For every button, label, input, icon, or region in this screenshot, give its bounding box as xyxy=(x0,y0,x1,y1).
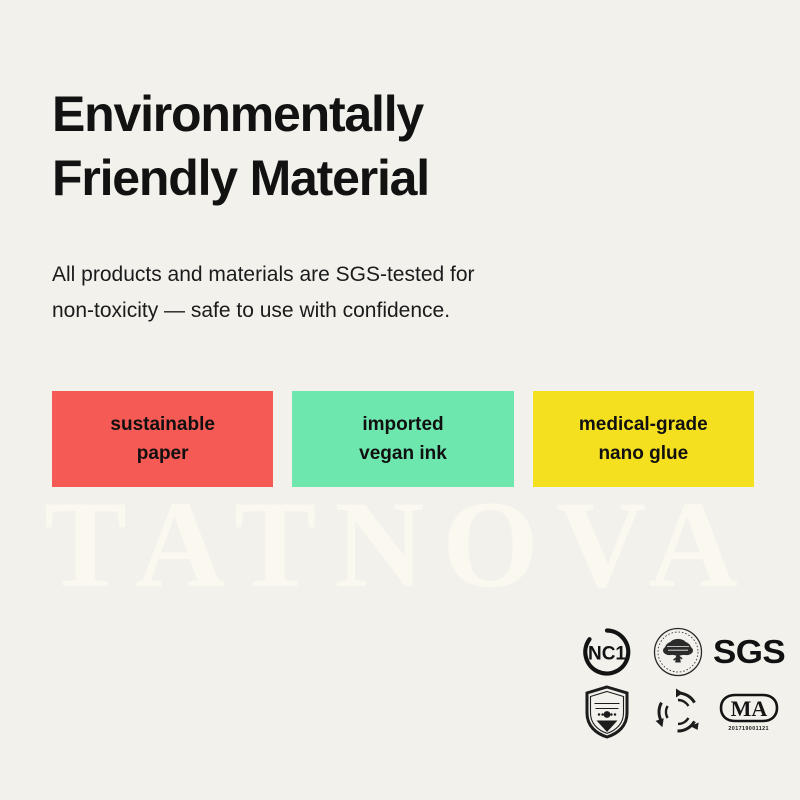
sgs-logo-text: SGS xyxy=(713,633,785,671)
badge-label-line-2: paper xyxy=(137,439,189,468)
badge-label-line-1: imported xyxy=(362,410,443,439)
sgs-logo: SGS xyxy=(716,623,782,681)
page-description: All products and materials are SGS-teste… xyxy=(52,257,652,329)
badge-imported-vegan-ink: imported vegan ink xyxy=(292,391,513,487)
page-description-line-2: non-toxicity — safe to use with confiden… xyxy=(52,293,652,329)
forest-tree-seal-icon xyxy=(645,623,711,681)
badge-label-line-1: sustainable xyxy=(110,410,215,439)
svg-text:MA: MA xyxy=(730,696,767,721)
poster-canvas: TATNOVA Environmentally Friendly Materia… xyxy=(0,0,800,800)
badge-label-line-2: nano glue xyxy=(598,439,688,468)
page-title-line-1: Environmentally xyxy=(52,82,672,146)
material-badge-group: sustainable paper imported vegan ink med… xyxy=(52,391,754,487)
certification-logo-grid: NC1 xyxy=(572,622,784,742)
shield-quality-badge-icon xyxy=(574,683,640,741)
badge-label-line-2: vegan ink xyxy=(359,439,447,468)
nc1-mark-icon: NC1 xyxy=(574,623,640,681)
cma-certificate-number: 201719001121 xyxy=(728,727,768,732)
badge-label-line-1: medical-grade xyxy=(579,410,708,439)
badge-sustainable-paper: sustainable paper xyxy=(52,391,273,487)
page-title: Environmentally Friendly Material xyxy=(52,82,672,210)
badge-medical-grade-nano-glue: medical-grade nano glue xyxy=(533,391,754,487)
recycling-arrows-icon xyxy=(645,683,711,741)
cma-mark-logo: MA 201719001121 xyxy=(716,683,782,741)
page-description-line-1: All products and materials are SGS-teste… xyxy=(52,257,652,293)
svg-text:NC1: NC1 xyxy=(588,644,626,665)
page-title-line-2: Friendly Material xyxy=(52,146,672,210)
brand-watermark: TATNOVA xyxy=(0,480,800,610)
